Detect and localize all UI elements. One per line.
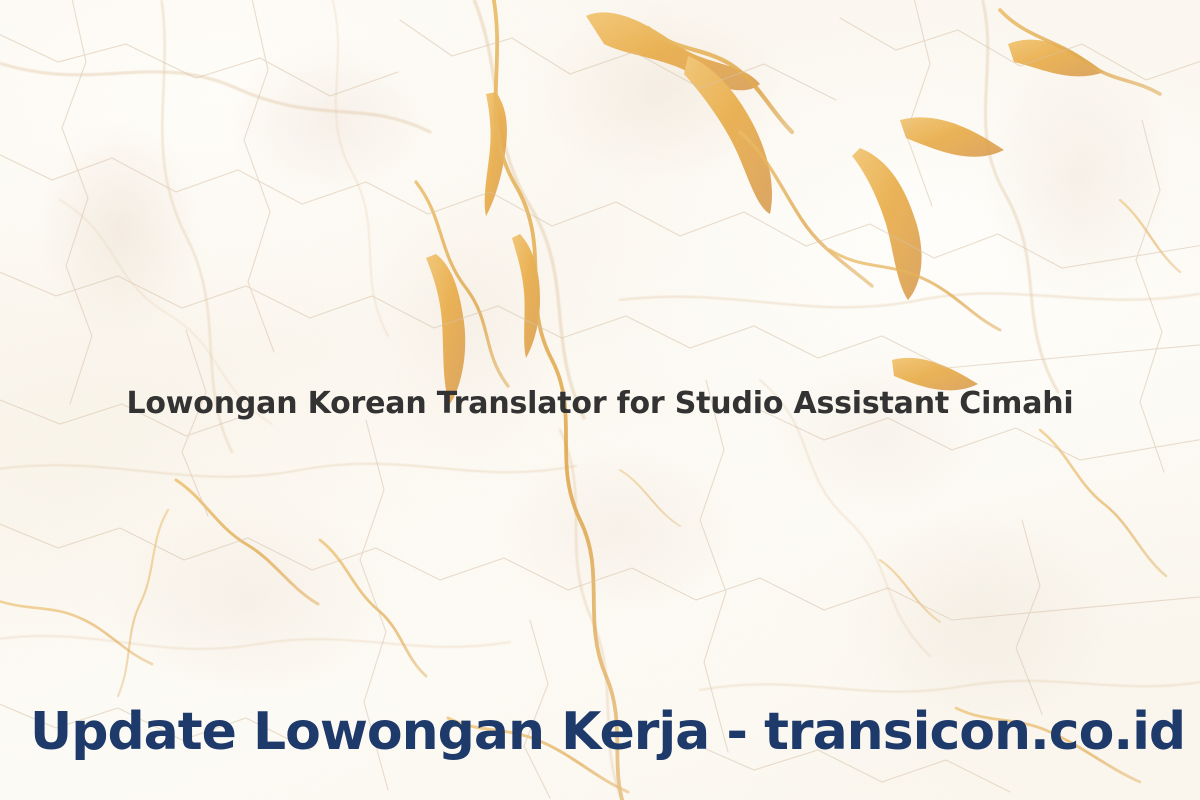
headline-container: Lowongan Korean Translator for Studio As… (0, 386, 1200, 422)
page-title: Lowongan Korean Translator for Studio As… (126, 386, 1073, 422)
footer-container: Update Lowongan Kerja - transicon.co.id (0, 700, 1200, 765)
site-brand-line: Update Lowongan Kerja - transicon.co.id (30, 700, 1185, 765)
job-vacancy-banner: Lowongan Korean Translator for Studio As… (0, 0, 1200, 800)
